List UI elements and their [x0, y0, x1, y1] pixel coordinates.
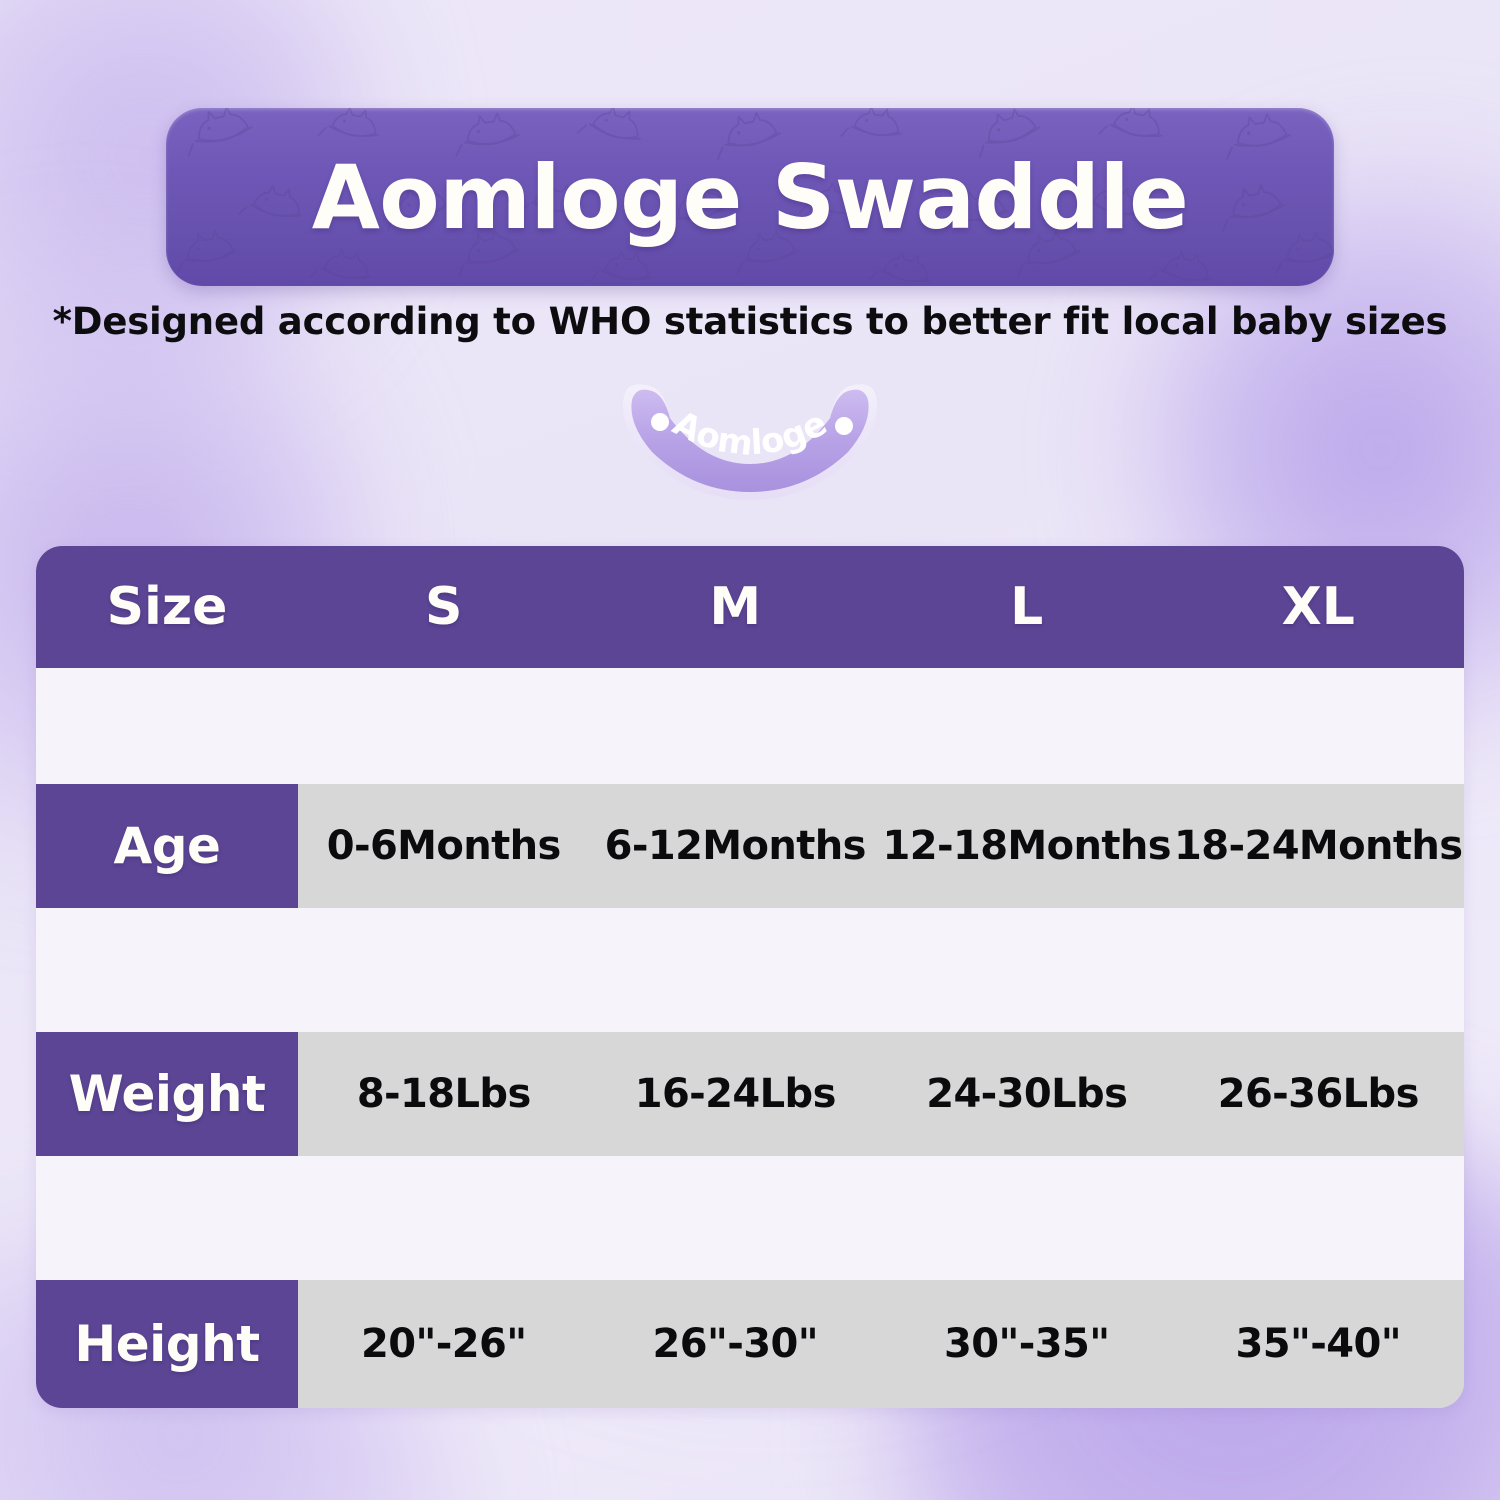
table-row-height: Height 20"-26" 26"-30" 30"-35" 35"-40" — [36, 1280, 1464, 1408]
table-cell-age-l: 12-18Months — [881, 823, 1173, 869]
table-row-weight: Weight 8-18Lbs 16-24Lbs 24-30Lbs 26-36Lb… — [36, 1032, 1464, 1156]
table-cell-height-m: 26"-30" — [590, 1321, 882, 1367]
table-cell-weight-m: 16-24Lbs — [590, 1071, 882, 1117]
table-cell-age-xl: 18-24Months — [1173, 823, 1465, 869]
table-header-cell-l: L — [881, 577, 1173, 637]
table-header-cell-xl: XL — [1173, 577, 1465, 637]
table-cell-age-s: 0-6Months — [298, 823, 590, 869]
logo-dot-right — [835, 417, 853, 435]
table-cell-weight-s: 8-18Lbs — [298, 1071, 590, 1117]
table-header-size-label: Size — [36, 577, 298, 637]
brand-logo: Aomloge — [604, 378, 896, 502]
logo-dot-left — [651, 413, 669, 431]
table-row-values-weight: 8-18Lbs 16-24Lbs 24-30Lbs 26-36Lbs — [298, 1032, 1464, 1156]
table-header-sizes: S M L XL — [298, 577, 1464, 637]
table-cell-height-l: 30"-35" — [881, 1321, 1173, 1367]
table-spacer-2 — [36, 908, 1464, 1032]
table-spacer-1 — [36, 668, 1464, 784]
table-cell-weight-l: 24-30Lbs — [881, 1071, 1173, 1117]
table-row-values-age: 0-6Months 6-12Months 12-18Months 18-24Mo… — [298, 784, 1464, 908]
table-cell-height-s: 20"-26" — [298, 1321, 590, 1367]
table-row-values-height: 20"-26" 26"-30" 30"-35" 35"-40" — [298, 1280, 1464, 1408]
table-cell-age-m: 6-12Months — [590, 823, 882, 869]
table-row-label-weight: Weight — [36, 1032, 298, 1156]
table-spacer-3 — [36, 1156, 1464, 1280]
table-row-label-age: Age — [36, 784, 298, 908]
page-title: Aomloge Swaddle — [166, 108, 1334, 286]
size-chart-table: Size S M L XL Age 0-6Months 6-12Months 1… — [36, 546, 1464, 1408]
table-header-cell-m: M — [590, 577, 882, 637]
table-row-age: Age 0-6Months 6-12Months 12-18Months 18-… — [36, 784, 1464, 908]
page-content: Aomloge Swaddle *Designed according to W… — [0, 0, 1500, 1500]
table-header-cell-s: S — [298, 577, 590, 637]
table-row-label-height: Height — [36, 1280, 298, 1408]
table-header-row: Size S M L XL — [36, 546, 1464, 668]
table-cell-height-xl: 35"-40" — [1173, 1321, 1465, 1367]
table-cell-weight-xl: 26-36Lbs — [1173, 1071, 1465, 1117]
subtitle-text: *Designed according to WHO statistics to… — [0, 300, 1500, 343]
title-banner: Aomloge Swaddle — [166, 108, 1334, 286]
